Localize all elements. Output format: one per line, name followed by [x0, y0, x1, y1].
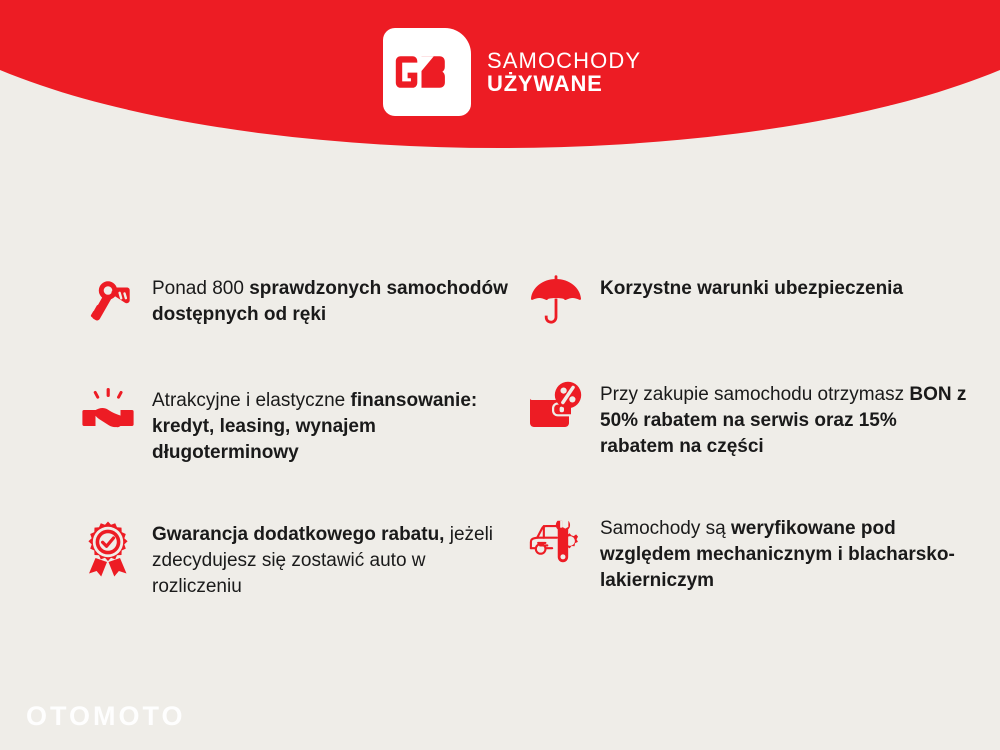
umbrella-icon: [528, 272, 584, 330]
brand-wordmark-line1: SAMOCHODY: [487, 49, 641, 72]
benefit-segment-regular: Ponad 800: [152, 278, 249, 299]
benefit-item-financing: Atrakcyjne i elastyczne finansowanie: kr…: [80, 384, 520, 466]
benefit-item-service-voucher: Przy zakupie samochodu otrzymasz BON z 5…: [528, 378, 968, 460]
benefit-segment-regular: Przy zakupie samochodu otrzymasz: [600, 384, 909, 405]
car-wrench-gear-icon: [528, 512, 584, 570]
brand-wordmark-line2: UŻYWANE: [487, 72, 641, 95]
brand-wordmark: SAMOCHODY UŻYWANE: [487, 49, 641, 96]
award-rosette-icon: [80, 518, 136, 576]
benefit-text: Korzystne warunki ubezpieczenia: [600, 272, 903, 302]
benefit-item-insurance: Korzystne warunki ubezpieczenia: [528, 272, 968, 330]
handshake-icon: [80, 384, 136, 442]
top-banner: SAMOCHODY UŻYWANE: [0, 0, 1000, 160]
benefit-text: Atrakcyjne i elastyczne finansowanie: kr…: [152, 384, 520, 466]
benefit-segment-regular: Samochody są: [600, 518, 731, 539]
brand-logo[interactable]: SAMOCHODY UŻYWANE: [383, 28, 641, 116]
benefit-text: Samochody są weryfikowane pod względem m…: [600, 512, 968, 594]
wallet-percent-icon: [528, 378, 584, 436]
benefit-segment-bold: Korzystne warunki ubezpieczenia: [600, 278, 903, 299]
otomoto-watermark: OTOMOTO: [26, 701, 186, 732]
benefit-text: Gwarancja dodatkowego rabatu, jeżeli zde…: [152, 518, 520, 600]
benefit-item-verified-cars: Samochody są weryfikowane pod względem m…: [528, 512, 968, 594]
benefit-text: Przy zakupie samochodu otrzymasz BON z 5…: [600, 378, 968, 460]
car-key-icon: [80, 272, 136, 330]
benefit-text: Ponad 800 sprawdzonych samochodów dostęp…: [152, 272, 520, 328]
benefit-item-extra-discount: Gwarancja dodatkowego rabatu, jeżeli zde…: [80, 518, 520, 600]
gb-logo-letters: [383, 55, 471, 89]
benefit-item-available-cars: Ponad 800 sprawdzonych samochodów dostęp…: [80, 272, 520, 330]
benefit-segment-bold: Gwarancja dodatkowego rabatu,: [152, 524, 444, 545]
benefit-segment-regular: Atrakcyjne i elastyczne: [152, 390, 351, 411]
gb-logo-mark: [383, 28, 471, 116]
